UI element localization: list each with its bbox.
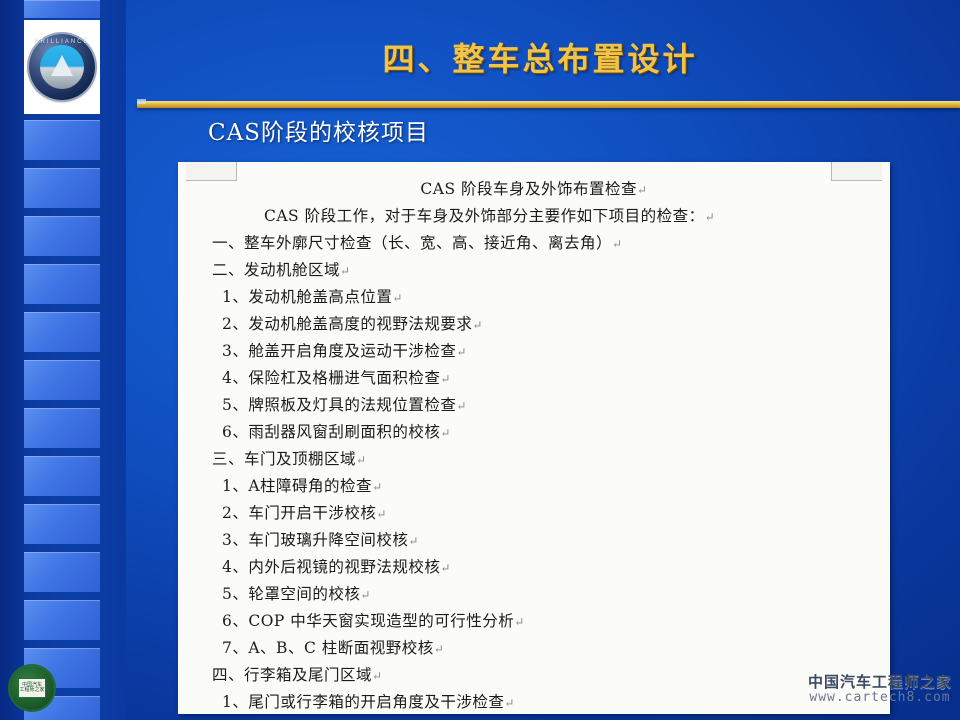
watermark: 中国汽车工程师之家 www.cartech8.com — [808, 674, 952, 706]
document-line-text: 5、牌照板及灯具的法规位置检查 — [222, 396, 456, 414]
document-line-text: 1、A柱障碍角的检查 — [222, 477, 372, 495]
document-item-line: 1、尾门或行李箱的开启角度及干涉检查↵ — [178, 689, 890, 714]
pilcrow-icon: ↵ — [456, 399, 467, 413]
pilcrow-icon: ↵ — [612, 237, 623, 251]
watermark-url: www.cartech8.com — [808, 691, 952, 706]
pilcrow-icon: ↵ — [440, 561, 451, 575]
rail-block — [24, 168, 100, 208]
document-line-text: 四、行李箱及尾门区域 — [212, 666, 372, 684]
document-line-text: 5、轮罩空间的校核 — [222, 585, 360, 603]
rail-block — [24, 264, 100, 304]
document-item-line: 3、舱盖开启角度及运动干涉检查↵ — [178, 338, 890, 365]
slide-subtitle: CAS阶段的校核项目 — [208, 113, 429, 147]
pilcrow-icon: ↵ — [356, 453, 367, 467]
document-panel: CAS 阶段车身及外饰布置检查↵ CAS 阶段工作，对于车身及外饰部分主要作如下… — [178, 162, 890, 714]
document-item-line: 4、保险杠及格栅进气面积检查↵ — [178, 365, 890, 392]
pilcrow-icon: ↵ — [440, 372, 451, 386]
left-decorative-rail: BRILLIANCE — [0, 0, 126, 720]
pilcrow-icon: ↵ — [440, 426, 451, 440]
slide-title: 四、整车总布置设计 — [140, 34, 940, 80]
site-badge-line2: 工程师之家 — [19, 688, 44, 693]
rail-block — [24, 360, 100, 400]
document-line-text: 一、整车外廓尺寸检查（长、宽、高、接近角、离去角） — [212, 234, 612, 252]
document-line-text: 4、保险杠及格栅进气面积检查 — [222, 369, 440, 387]
pilcrow-icon: ↵ — [360, 588, 371, 602]
document-section-line: 一、整车外廓尺寸检查（长、宽、高、接近角、离去角）↵ — [178, 230, 890, 257]
emblem-mountain-icon — [51, 55, 73, 76]
document-section-line: 四、行李箱及尾门区域↵ — [178, 662, 890, 689]
document-item-line: 5、牌照板及灯具的法规位置检查↵ — [178, 392, 890, 419]
pilcrow-icon: ↵ — [340, 264, 351, 278]
document-line-text: 1、尾门或行李箱的开启角度及干涉检查 — [222, 693, 504, 711]
document-line-text: 3、舱盖开启角度及运动干涉检查 — [222, 342, 456, 360]
document-line-text: 4、内外后视镜的视野法规校核 — [222, 558, 440, 576]
rail-block — [24, 216, 100, 256]
pilcrow-icon: ↵ — [408, 534, 419, 548]
document-section-line: 三、车门及顶棚区域↵ — [178, 446, 890, 473]
emblem-inner-disc — [40, 45, 84, 89]
document-line-text: 2、车门开启干涉校核 — [222, 504, 376, 522]
pilcrow-icon: ↵ — [514, 615, 525, 629]
pilcrow-icon: ↵ — [456, 345, 467, 359]
site-badge-core: 中国汽车 工程师之家 — [18, 678, 46, 698]
document-item-line: 6、COP 中华天窗实现造型的可行性分析↵ — [178, 608, 890, 635]
document-line-text: 6、雨刮器风窗刮刷面积的校核 — [222, 423, 440, 441]
document-heading: CAS 阶段车身及外饰布置检查↵ — [178, 176, 890, 203]
brilliance-emblem-icon: BRILLIANCE — [29, 34, 95, 100]
document-heading-text: CAS 阶段车身及外饰布置检查 — [420, 180, 637, 198]
pilcrow-icon: ↵ — [472, 318, 483, 332]
pilcrow-icon: ↵ — [372, 480, 383, 494]
document-line-text: 三、车门及顶棚区域 — [212, 450, 356, 468]
rail-block — [24, 504, 100, 544]
document-item-line: 7、A、B、C 柱断面视野校核↵ — [178, 635, 890, 662]
rail-block — [24, 600, 100, 640]
document-item-line: 2、车门开启干涉校核↵ — [178, 500, 890, 527]
document-intro-text: CAS 阶段工作，对于车身及外饰部分主要作如下项目的检查： — [264, 207, 705, 225]
rail-block — [24, 552, 100, 592]
document-intro: CAS 阶段工作，对于车身及外饰部分主要作如下项目的检查：↵ — [178, 203, 890, 230]
pilcrow-icon: ↵ — [504, 696, 515, 710]
document-item-line: 5、轮罩空间的校核↵ — [178, 581, 890, 608]
document-body: CAS 阶段车身及外饰布置检查↵ CAS 阶段工作，对于车身及外饰部分主要作如下… — [178, 176, 890, 714]
pilcrow-icon: ↵ — [376, 507, 387, 521]
pilcrow-icon: ↵ — [637, 183, 648, 197]
gold-divider-rule — [137, 101, 960, 108]
rail-block — [24, 408, 100, 448]
document-item-line: 6、雨刮器风窗刮刷面积的校核↵ — [178, 419, 890, 446]
document-item-line: 3、车门玻璃升降空间校核↵ — [178, 527, 890, 554]
document-line-text: 2、发动机舱盖高度的视野法规要求 — [222, 315, 472, 333]
document-line-text: 1、发动机舱盖高点位置 — [222, 288, 392, 306]
document-line-text: 二、发动机舱区域 — [212, 261, 340, 279]
document-item-line: 2、发动机舱盖高度的视野法规要求↵ — [178, 311, 890, 338]
document-item-line: 4、内外后视镜的视野法规校核↵ — [178, 554, 890, 581]
document-line-text: 7、A、B、C 柱断面视野校核 — [222, 639, 434, 657]
document-line-text: 3、车门玻璃升降空间校核 — [222, 531, 408, 549]
document-line-list: 一、整车外廓尺寸检查（长、宽、高、接近角、离去角）↵二、发动机舱区域↵1、发动机… — [178, 230, 890, 714]
pilcrow-icon: ↵ — [392, 291, 403, 305]
rail-block — [24, 120, 100, 160]
presentation-slide: BRILLIANCE 中国汽车 工程师之家 四、整车总布置设计 CAS阶段的校核… — [0, 0, 960, 720]
document-item-line: 1、A柱障碍角的检查↵ — [178, 473, 890, 500]
pilcrow-icon: ↵ — [372, 669, 383, 683]
rail-block — [24, 456, 100, 496]
rail-block — [24, 0, 100, 18]
gold-divider-cap — [137, 99, 146, 104]
site-badge-icon: 中国汽车 工程师之家 — [10, 666, 54, 710]
pilcrow-icon: ↵ — [705, 210, 716, 224]
rail-dark-edge — [0, 0, 24, 720]
document-item-line: 1、发动机舱盖高点位置↵ — [178, 284, 890, 311]
rail-block — [24, 312, 100, 352]
watermark-chinese: 中国汽车工程师之家 — [808, 674, 952, 691]
document-section-line: 二、发动机舱区域↵ — [178, 257, 890, 284]
logo-tile: BRILLIANCE — [24, 20, 100, 114]
pilcrow-icon: ↵ — [434, 642, 445, 656]
document-line-text: 6、COP 中华天窗实现造型的可行性分析 — [222, 612, 514, 630]
